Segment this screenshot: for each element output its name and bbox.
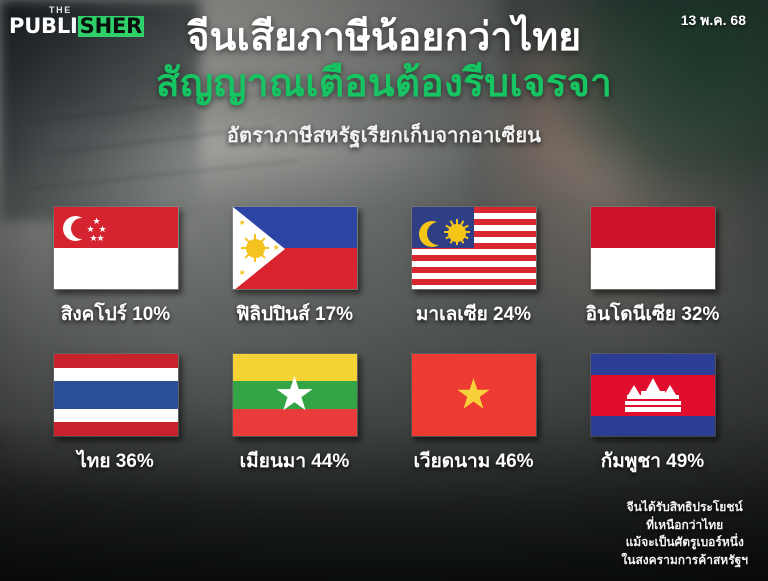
- thailand-red-bottom: [54, 422, 178, 436]
- country-cell-malaysia: มาเลเซีย 24%: [384, 206, 563, 329]
- country-cell-vietnam: ★ เวียดนาม 46%: [384, 353, 563, 476]
- flag-myanmar: ★: [232, 353, 358, 437]
- cambodia-angkor-wat-icon: [625, 380, 681, 414]
- flag-vietnam: ★: [411, 353, 537, 437]
- flag-singapore: ★ ★ ★ ★ ★: [53, 206, 179, 290]
- philippines-sun-icon: [246, 239, 265, 258]
- thailand-white-bottom: [54, 409, 178, 423]
- country-label-malaysia: มาเลเซีย 24%: [416, 299, 531, 329]
- star-icon: ★: [239, 269, 246, 277]
- flag-philippines: ★ ★ ★: [232, 206, 358, 290]
- headline-line-2: สัญญาณเตือนต้องรีบเจรจา: [0, 62, 768, 106]
- footnote-line-1: จีนได้รับสิทธิประโยชน์: [621, 499, 748, 516]
- footnote-line-3: แม้จะเป็นศัตรูเบอร์หนึ่ง: [621, 534, 748, 551]
- country-label-thailand: ไทย 36%: [77, 446, 154, 476]
- star-icon: ★: [273, 244, 280, 252]
- malaysia-crescent-icon: [419, 221, 445, 247]
- headline-block: จีนเสียภาษีน้อยกว่าไทย สัญญาณเตือนต้องรี…: [0, 16, 768, 151]
- country-label-philippines: ฟิลิปปินส์ 17%: [236, 299, 353, 329]
- country-cell-philippines: ★ ★ ★ ฟิลิปปินส์ 17%: [205, 206, 384, 329]
- country-cell-singapore: ★ ★ ★ ★ ★ สิงคโปร์ 10%: [26, 206, 205, 329]
- headline-line-1: จีนเสียภาษีน้อยกว่าไทย: [0, 16, 768, 60]
- country-label-indonesia: อินโดนีเซีย 32%: [586, 299, 720, 329]
- subtitle: อัตราภาษีสหรัฐเรียกเก็บจากอาเซียน: [0, 119, 768, 151]
- thailand-blue-band: [54, 381, 178, 408]
- cambodia-blue-top: [591, 354, 715, 375]
- star-icon: ★: [273, 374, 315, 414]
- thailand-white-top: [54, 368, 178, 382]
- flag-thailand: [53, 353, 179, 437]
- country-label-vietnam: เวียดนาม 46%: [413, 446, 533, 476]
- flag-cambodia: [590, 353, 716, 437]
- malaysia-star-icon: [448, 224, 466, 242]
- footnote-block: จีนได้รับสิทธิประโยชน์ ที่เหนือกว่าไทย แ…: [621, 499, 748, 569]
- country-label-cambodia: กัมพูชา 49%: [601, 446, 704, 476]
- cambodia-blue-bottom: [591, 416, 715, 437]
- star-icon: ★: [239, 219, 246, 227]
- country-cell-cambodia: กัมพูชา 49%: [563, 353, 742, 476]
- tariff-flag-grid: ★ ★ ★ ★ ★ สิงคโปร์ 10%: [0, 206, 768, 476]
- country-cell-myanmar: ★ เมียนมา 44%: [205, 353, 384, 476]
- country-label-myanmar: เมียนมา 44%: [240, 446, 350, 476]
- footnote-line-4: ในสงครามการค้าสหรัฐฯ: [621, 552, 748, 569]
- star-icon: ★: [97, 234, 105, 243]
- indonesia-white-band: [591, 248, 715, 289]
- star-icon: ★: [455, 376, 493, 412]
- country-label-singapore: สิงคโปร์ 10%: [61, 299, 170, 329]
- country-cell-indonesia: อินโดนีเซีย 32%: [563, 206, 742, 329]
- flag-malaysia: [411, 206, 537, 290]
- flag-indonesia: [590, 206, 716, 290]
- infographic-canvas: THE PUBLISHER 13 พ.ค. 68 จีนเสียภาษีน้อย…: [0, 0, 768, 581]
- footnote-line-2: ที่เหนือกว่าไทย: [621, 517, 748, 534]
- indonesia-red-band: [591, 207, 715, 248]
- singapore-white-band: [54, 248, 178, 289]
- thailand-red-top: [54, 354, 178, 368]
- singapore-crescent-icon: [63, 216, 88, 241]
- country-cell-thailand: ไทย 36%: [26, 353, 205, 476]
